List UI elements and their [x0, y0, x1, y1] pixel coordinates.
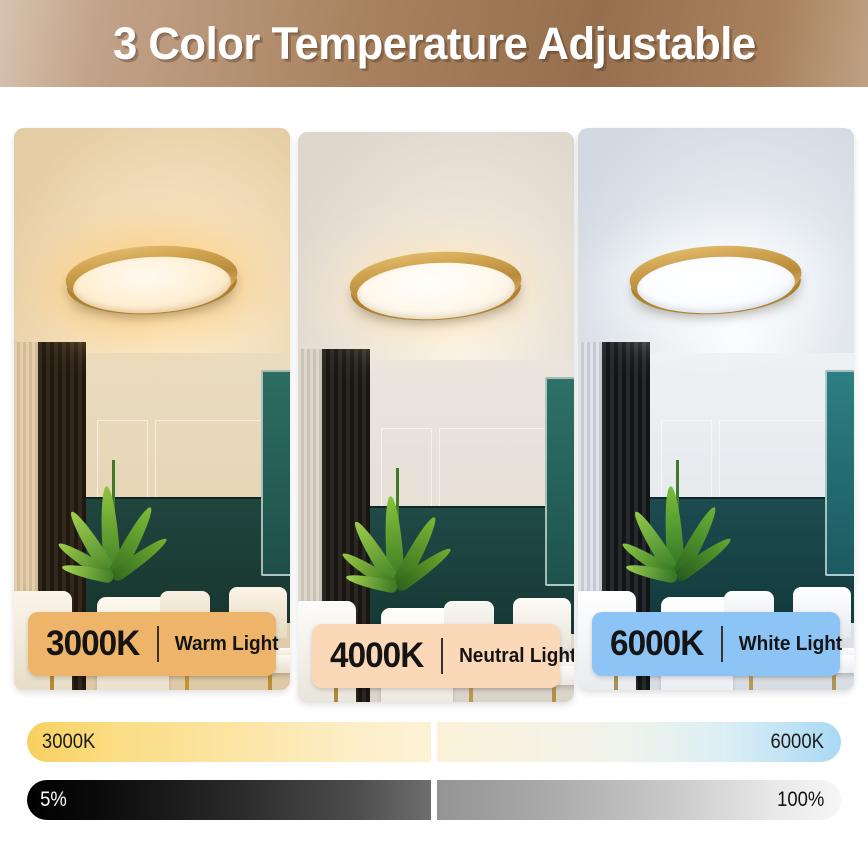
- cct-max-label: 6000K: [771, 730, 837, 754]
- brightness-max-label: 100%: [777, 788, 837, 812]
- panel-neutral-4000k[interactable]: 4000K Neutral Light: [298, 132, 574, 702]
- cct-min-label: 3000K: [31, 730, 95, 754]
- brightness-bar[interactable]: 5% 100%: [0, 780, 868, 820]
- light-mode-label: Neutral Light: [459, 645, 574, 668]
- badge-divider: [721, 626, 723, 662]
- panel-white-6000k[interactable]: 6000K White Light: [578, 128, 854, 690]
- status-badge-warm: 3000K Warm Light: [28, 612, 276, 676]
- kelvin-value: 6000K: [595, 624, 703, 664]
- kelvin-value: 3000K: [31, 624, 139, 664]
- cct-bar-right-segment[interactable]: 6000K: [437, 722, 841, 762]
- cct-bar-left-segment[interactable]: 3000K: [27, 722, 431, 762]
- header-banner: 3 Color Temperature Adjustable: [0, 0, 868, 87]
- badge-divider: [157, 626, 159, 662]
- light-mode-label: Warm Light: [175, 633, 279, 656]
- status-badge-white: 6000K White Light: [592, 612, 840, 676]
- panel-warm-3000k[interactable]: 3000K Warm Light: [14, 128, 290, 690]
- brightness-bar-left-segment[interactable]: 5%: [27, 780, 431, 820]
- comparison-panels: 3000K Warm Light: [0, 112, 868, 702]
- status-badge-neutral: 4000K Neutral Light: [312, 624, 560, 688]
- color-temperature-bar[interactable]: 3000K 6000K: [0, 722, 868, 762]
- brightness-bar-right-segment[interactable]: 100%: [437, 780, 841, 820]
- badge-divider: [441, 638, 443, 674]
- room-scene-white: [578, 128, 854, 690]
- ceiling-lamp-neutral: [348, 247, 524, 334]
- ceiling-lamp-white: [628, 242, 804, 329]
- kelvin-value: 4000K: [315, 636, 423, 676]
- light-mode-label: White Light: [739, 633, 842, 656]
- page-title: 3 Color Temperature Adjustable: [113, 18, 756, 70]
- adjustment-bars: 3000K 6000K 5% 100%: [0, 706, 868, 866]
- room-scene-warm: [14, 128, 290, 690]
- brightness-min-label: 5%: [30, 788, 67, 812]
- room-scene-neutral: [298, 132, 574, 702]
- ceiling-lamp-warm: [64, 242, 240, 329]
